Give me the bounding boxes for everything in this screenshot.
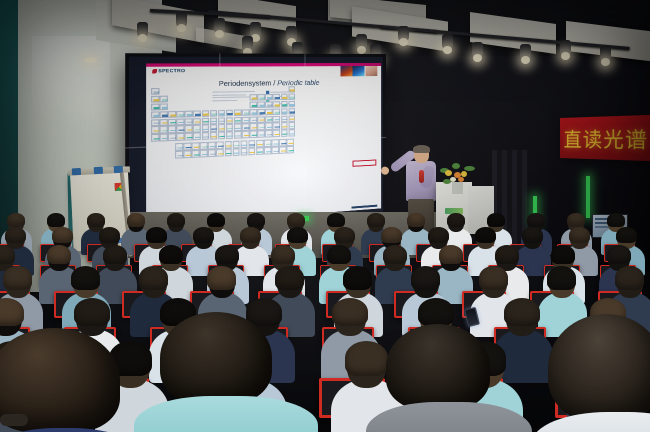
element-cell (250, 101, 257, 108)
element-cell (151, 103, 159, 110)
element-cell (185, 110, 193, 117)
element-cell (177, 118, 185, 125)
element-cell (272, 147, 279, 154)
element-cell (193, 110, 201, 117)
element-cell (257, 101, 264, 108)
periodic-gap (210, 87, 218, 94)
spotlight-icon (442, 34, 453, 50)
downlight-icon (84, 57, 97, 63)
presenter-hair (413, 145, 430, 153)
element-cell (210, 110, 218, 117)
element-cell (265, 130, 272, 137)
audience-hair (103, 245, 128, 265)
element-cell (288, 93, 295, 100)
audience-hair (0, 298, 24, 326)
audience-hair (47, 213, 65, 227)
periodic-gap (168, 88, 176, 95)
periodic-gap (177, 103, 185, 110)
element-cell (185, 118, 193, 125)
foreground-attendee (152, 312, 302, 432)
audience-hair (367, 213, 385, 227)
audience-hair (247, 213, 265, 227)
element-cell (288, 108, 295, 115)
audience-hair (275, 266, 304, 289)
thumbnail-image (353, 66, 365, 76)
spotlight-icon (560, 40, 571, 56)
audience-hair (3, 266, 32, 289)
element-cell (250, 116, 257, 123)
audience-hair (287, 213, 305, 227)
foreground-hair (548, 314, 650, 422)
element-cell (288, 115, 295, 122)
audience-hair (522, 227, 543, 243)
element-cell (234, 124, 241, 131)
element-cell (160, 96, 168, 103)
flipchart-clip-icon (94, 167, 103, 174)
periodic-gap (234, 94, 241, 101)
foreground-shoulders (366, 402, 532, 432)
periodic-gap (234, 87, 241, 94)
audience-hair (479, 266, 508, 289)
audience-hair (332, 298, 368, 326)
element-cell (287, 146, 294, 153)
element-cell (185, 133, 193, 140)
element-cell (160, 103, 168, 110)
periodic-gap (226, 94, 233, 101)
element-cell (250, 94, 257, 101)
slide-highlight-box (353, 159, 377, 166)
periodic-gap (185, 103, 193, 110)
element-cell (168, 111, 176, 118)
element-cell (273, 130, 280, 137)
audience-hair (383, 245, 408, 265)
periodic-gap (201, 87, 209, 94)
periodic-gap (242, 94, 249, 101)
audience-hair (495, 245, 520, 265)
foreground-hair (386, 324, 490, 410)
audience-hair (418, 298, 454, 326)
periodic-gap (242, 87, 249, 94)
audience-hair (146, 227, 167, 243)
audience-hair (207, 266, 236, 289)
element-cell (273, 94, 280, 101)
element-cell (242, 116, 249, 123)
audience-hair (5, 227, 26, 243)
element-cell (257, 109, 264, 116)
element-cell (168, 118, 176, 125)
element-cell (242, 124, 249, 131)
periodic-gap (185, 88, 193, 95)
element-cell (160, 119, 168, 126)
audience-hair (381, 227, 402, 243)
element-cell (208, 149, 216, 156)
audience-hair (47, 245, 72, 265)
element-cell (226, 132, 233, 139)
audience-hair (74, 298, 110, 326)
periodic-gap (250, 87, 257, 94)
periodic-gap (193, 95, 201, 102)
element-cell (151, 88, 159, 95)
element-cell (201, 132, 209, 139)
element-cell (240, 148, 247, 155)
periodic-gap (234, 102, 241, 109)
element-cell (224, 149, 231, 156)
element-cell (250, 131, 257, 138)
audience-hair (428, 227, 449, 243)
banner-text: 直读光谱 (564, 123, 649, 154)
audience-hair (607, 213, 625, 227)
element-cell (281, 108, 288, 115)
audience-hair (569, 227, 590, 243)
spotlight-icon (176, 12, 187, 28)
element-cell (168, 126, 176, 133)
element-cell (257, 131, 264, 138)
audience-hair (327, 213, 345, 227)
element-cell (185, 125, 193, 132)
periodic-gap (168, 95, 176, 102)
element-cell (160, 134, 168, 141)
element-cell (234, 131, 241, 138)
element-cell (226, 117, 233, 124)
periodic-gap (177, 95, 185, 102)
element-cell (210, 132, 218, 139)
element-cell (273, 123, 280, 130)
element-cell (264, 147, 271, 154)
microphone-icon (419, 170, 424, 183)
audience-hair (215, 245, 240, 265)
element-cell (168, 134, 176, 141)
element-cell (234, 116, 241, 123)
logo-mark-icon (152, 69, 157, 74)
audience-hair (327, 245, 352, 265)
thumbnail-image (366, 66, 378, 76)
audience-hair (547, 266, 576, 289)
element-cell (288, 122, 295, 129)
periodic-gap (226, 87, 233, 94)
element-cell (177, 110, 185, 117)
audience-hair (504, 298, 540, 326)
spotlight-icon (137, 22, 148, 38)
audience-hair (87, 213, 105, 227)
brand-text: SPECTRO (158, 68, 185, 74)
audience-hair (616, 227, 637, 243)
element-cell (265, 116, 272, 123)
flower-arrangement (438, 162, 478, 188)
element-cell (232, 148, 239, 155)
spotlight-icon (286, 26, 297, 42)
element-cell (234, 109, 241, 116)
element-cell (281, 115, 288, 122)
element-cell (281, 94, 288, 101)
audience-hair (487, 213, 505, 227)
element-cell (192, 150, 200, 157)
element-cell (288, 86, 295, 93)
audience-hair (52, 227, 73, 243)
element-cell (226, 109, 233, 116)
audience-hair (193, 227, 214, 243)
spotlight-icon (520, 44, 531, 60)
element-cell (193, 133, 201, 140)
element-cell (273, 115, 280, 122)
element-cell (151, 119, 159, 126)
element-cell (160, 111, 168, 118)
audience-hair (607, 245, 632, 265)
audience-hair (343, 266, 372, 289)
audience-hair (207, 213, 225, 227)
audience-hair (139, 266, 168, 289)
audience-hair (287, 227, 308, 243)
audience-hair (334, 227, 355, 243)
spotlight-icon (242, 36, 253, 52)
periodic-gap (201, 102, 209, 109)
audience-area (0, 208, 650, 432)
periodic-gap (185, 95, 193, 102)
spotlight-icon (472, 42, 483, 58)
audience-hair (0, 245, 15, 265)
element-cell (288, 129, 295, 136)
periodic-gap (242, 102, 249, 109)
spectro-logo: SPECTRO (152, 68, 185, 74)
element-cell (177, 133, 185, 140)
element-cell (242, 131, 249, 138)
element-cell (201, 110, 209, 117)
periodic-gap (281, 86, 288, 93)
thumbnail-image (340, 66, 352, 76)
periodic-gap (226, 102, 233, 109)
element-cell (201, 117, 209, 124)
element-cell (160, 126, 168, 133)
element-cell (242, 109, 249, 116)
periodic-gap (193, 102, 201, 109)
spotlight-icon (214, 18, 225, 34)
element-cell (257, 116, 264, 123)
element-cell (151, 126, 159, 133)
element-cell (265, 94, 272, 101)
element-cell (177, 126, 185, 133)
periodic-gap (160, 88, 168, 95)
foreground-hair (160, 312, 272, 404)
element-cell (273, 108, 280, 115)
element-cell (210, 125, 218, 132)
periodic-table-grid (151, 85, 378, 215)
foreground-attendee (380, 324, 530, 432)
audience-hair (475, 227, 496, 243)
element-cell (257, 94, 264, 101)
element-cell (193, 125, 201, 132)
periodic-gap (210, 95, 218, 102)
periodic-gap (265, 86, 272, 93)
audience-hair (167, 213, 185, 227)
red-banner: 直读光谱 (560, 115, 650, 162)
audience-hair (240, 227, 261, 243)
element-cell (226, 124, 233, 131)
audience-hair (567, 213, 585, 227)
element-cell (193, 118, 201, 125)
audience-hair (447, 213, 465, 227)
foreground-attendee (0, 328, 138, 432)
periodic-gap (210, 102, 218, 109)
element-cell (201, 125, 209, 132)
element-cell (151, 134, 159, 141)
audience-hair (615, 266, 644, 289)
element-cell (250, 123, 257, 130)
foreground-attendee (548, 314, 650, 432)
audience-hair (71, 266, 100, 289)
element-cell (257, 123, 264, 130)
slide-thumbnails (340, 66, 377, 76)
periodic-gap (201, 95, 209, 102)
audience-hair (439, 245, 464, 265)
element-cell (151, 96, 159, 103)
audience-hair (551, 245, 576, 265)
element-cell (288, 101, 295, 108)
periodic-gap (177, 88, 185, 95)
element-cell (273, 101, 280, 108)
spotlight-icon (356, 34, 367, 50)
element-cell (279, 146, 286, 153)
audience-hair (527, 213, 545, 227)
periodic-gap (168, 103, 176, 110)
audience-hair (159, 245, 184, 265)
audience-hair (99, 227, 120, 243)
element-cell (256, 147, 263, 154)
periodic-gap (193, 87, 201, 94)
element-cell (281, 130, 288, 137)
spotlight-icon (398, 26, 409, 42)
periodic-gap (257, 87, 264, 94)
element-cell (250, 109, 257, 116)
element-cell (281, 122, 288, 129)
element-cell (248, 148, 255, 155)
flipchart-clip-icon (72, 168, 81, 175)
foreground-shoulders (134, 396, 318, 432)
auditorium-scene: SPECTRO Periodensystem / Periodic table (0, 0, 650, 432)
element-cell (265, 123, 272, 130)
element-cell (151, 111, 159, 118)
element-cell (200, 150, 208, 157)
hair-tie-icon (0, 414, 28, 426)
element-cell (183, 150, 191, 157)
periodic-gap (273, 86, 280, 93)
element-cell (281, 101, 288, 108)
audience-hair (127, 213, 145, 227)
audience-hair (271, 245, 296, 265)
element-cell (265, 101, 272, 108)
spotlight-icon (600, 46, 611, 62)
foreground-shoulders (532, 412, 650, 432)
element-cell (175, 151, 183, 158)
audience-hair (7, 213, 25, 227)
audience-hair (411, 266, 440, 289)
element-cell (210, 117, 218, 124)
element-cell (265, 108, 272, 115)
audience-hair (407, 213, 425, 227)
